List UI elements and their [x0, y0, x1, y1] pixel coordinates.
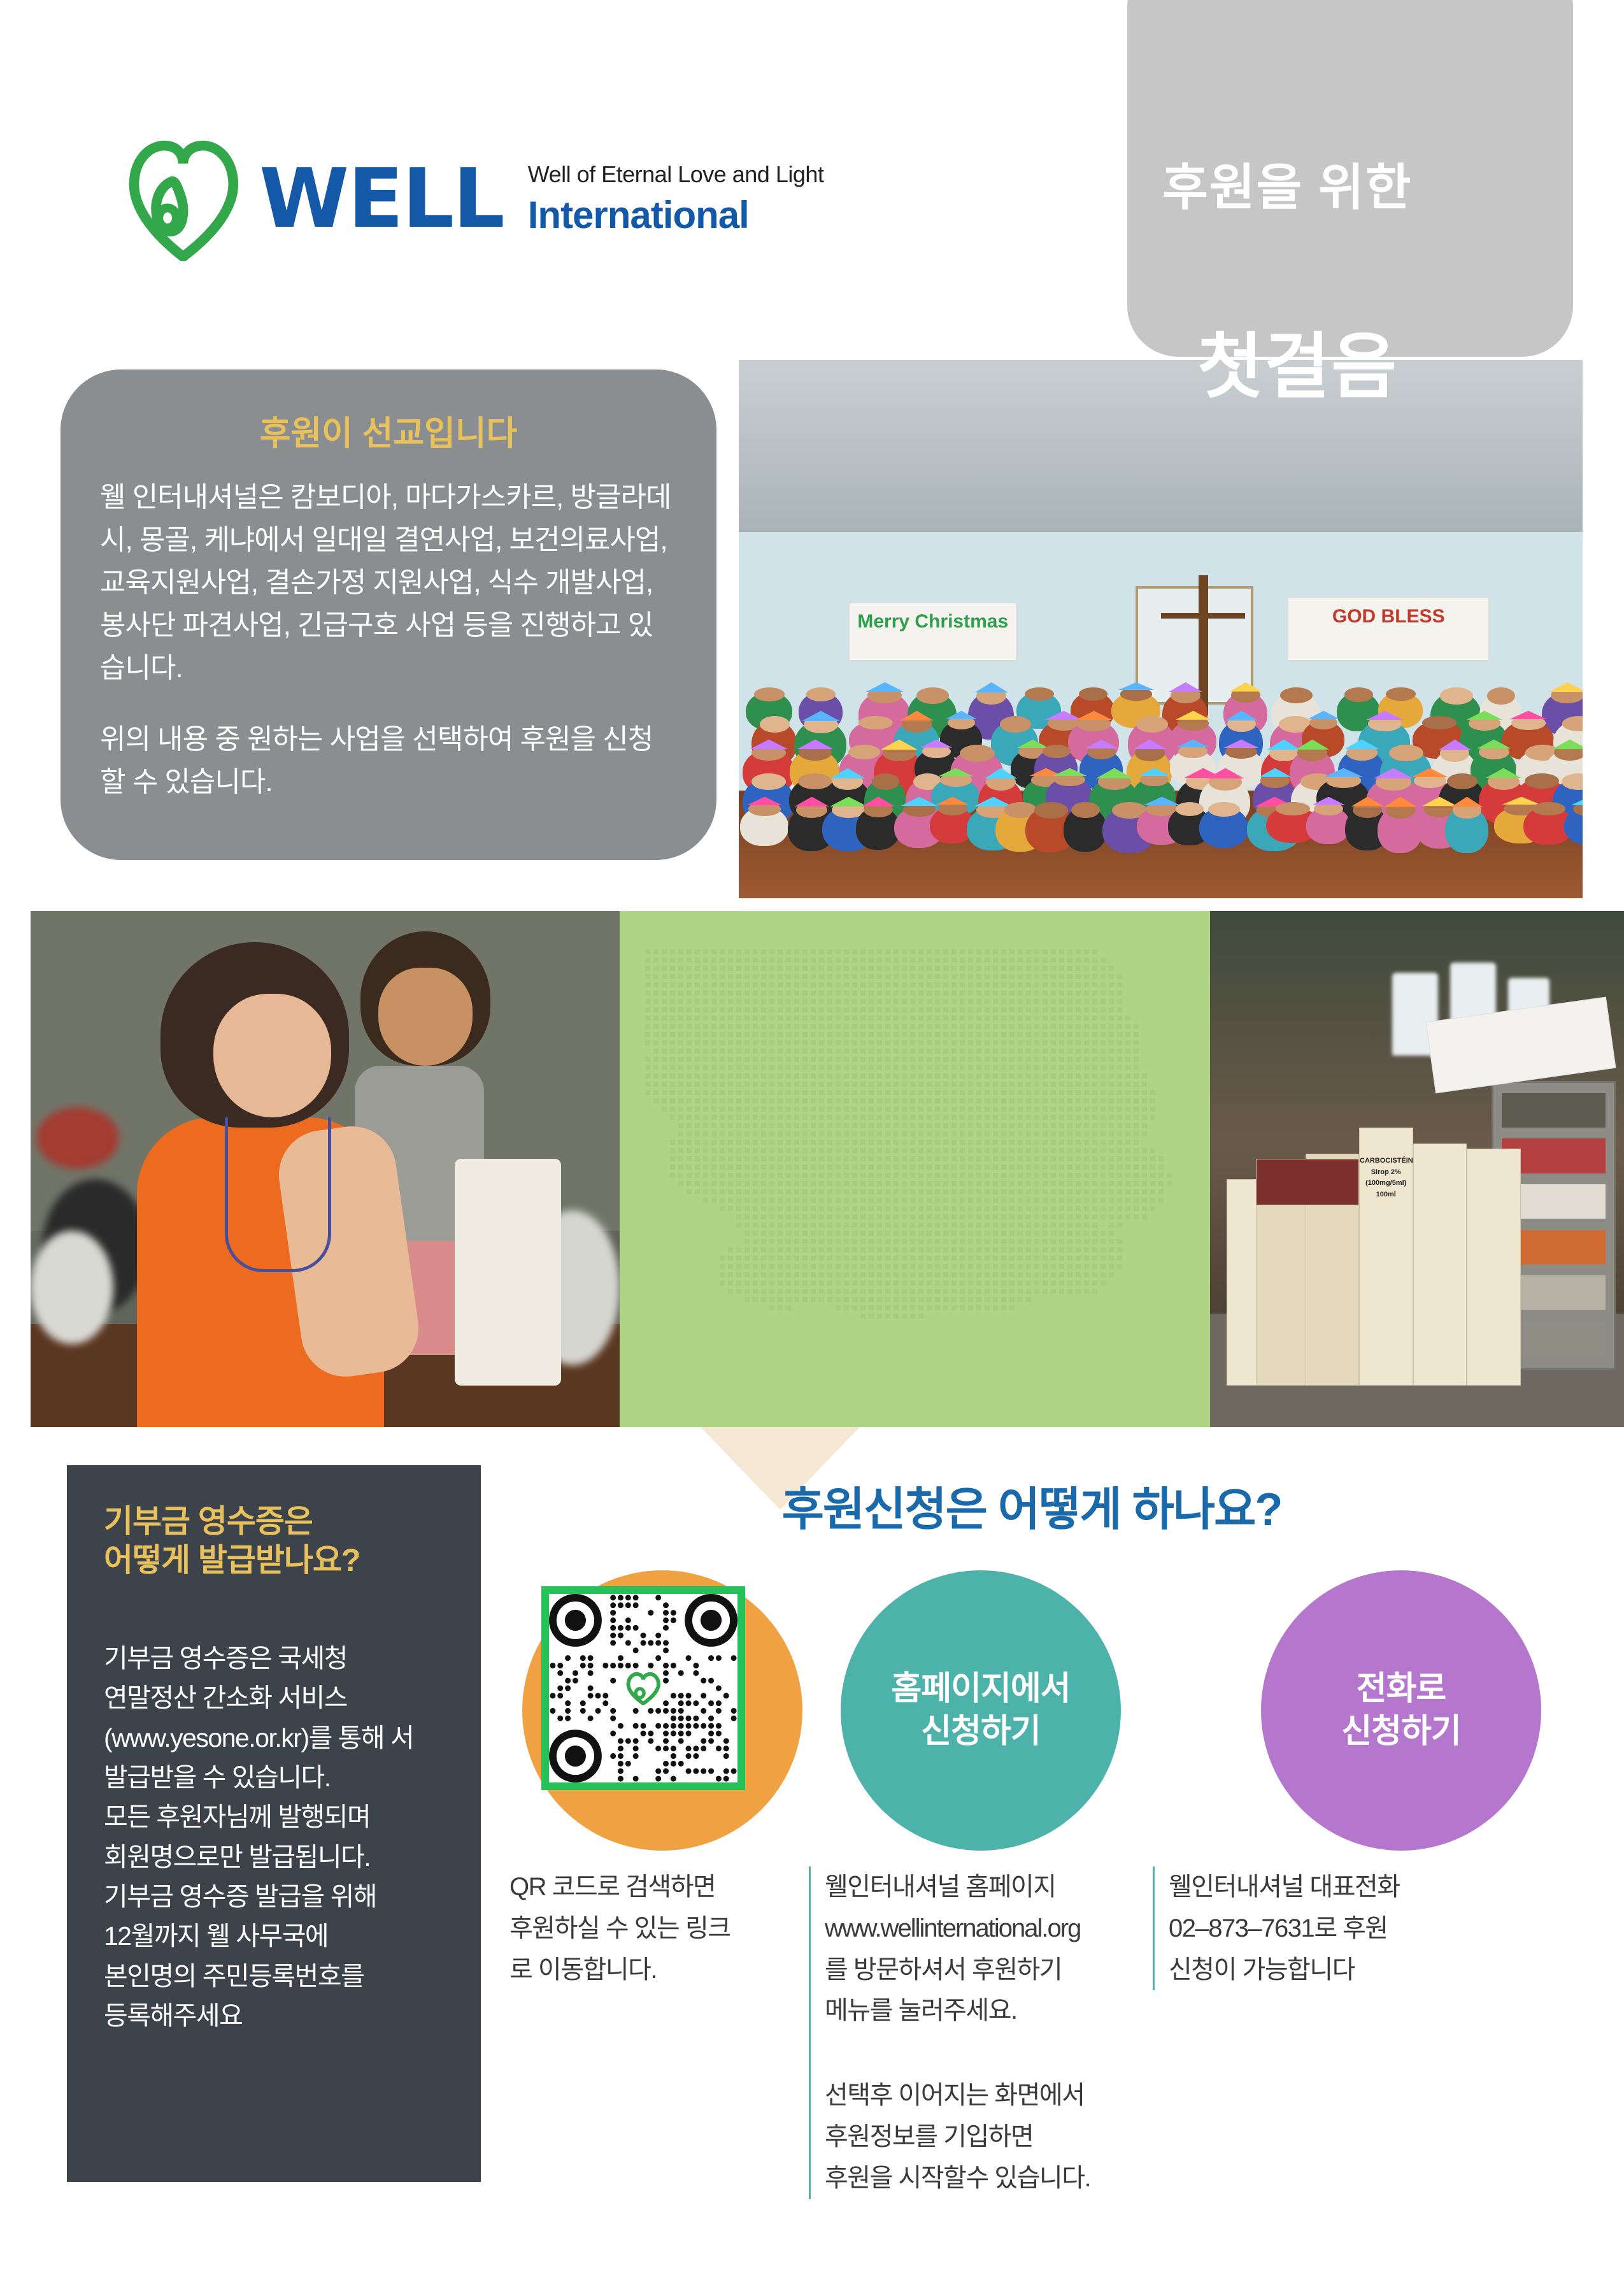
- hero-title-line1: 후원을 위한: [1162, 162, 1570, 212]
- method-qr-text: QR 코드로 검색하면 후원하실 수 있는 링크 로 이동합니다.: [509, 1867, 777, 1990]
- medicine-label: CARBOCISTÉINE Sirop 2% (100mg/5ml) 100ml: [1360, 1128, 1413, 1200]
- intro-body: 웰 인터내셔널은 캄보디아, 마다가스카르, 방글라데시, 몽골, 케냐에서 일…: [100, 477, 677, 804]
- sign-merry-christmas: Merry Christmas: [848, 602, 1017, 661]
- receipt-title: 기부금 영수증은 어떻게 발급받나요?: [104, 1502, 448, 1580]
- method-website-head: 웰인터내셔널 홈페이지: [825, 1867, 1108, 1908]
- method-phone-head: 웰인터내셔널 대표전화: [1169, 1867, 1452, 1908]
- volunteer-photo: [31, 911, 620, 1427]
- option-website-circle[interactable]: 홈페이지에서 신청하기: [841, 1570, 1121, 1851]
- brand-tagline: Well of Eternal Love and Light: [528, 161, 824, 188]
- intro-paragraph-1: 웰 인터내셔널은 캄보디아, 마다가스카르, 방글라데시, 몽골, 케냐에서 일…: [100, 477, 677, 689]
- intro-paragraph-2: 위의 내용 중 원하는 사업을 선택하여 후원을 신청할 수 있습니다.: [100, 719, 677, 804]
- method-website-url[interactable]: www.wellinternational.org: [825, 1908, 1108, 1949]
- brand-wordmark: WELL: [259, 161, 504, 238]
- hero-title-line2: 첫걸음: [1197, 331, 1605, 403]
- well-heart-logo-icon: [626, 1672, 660, 1705]
- medicine-photo: CARBOCISTÉINE Sirop 2% (100mg/5ml) 100ml: [1210, 911, 1624, 1427]
- world-map-dots-icon: [620, 911, 1210, 1427]
- poster-root: 후원을 위한 첫걸음 WELL Well of Eternal Love and…: [0, 0, 1624, 2280]
- method-qr-body: QR 코드로 검색하면 후원하실 수 있는 링크 로 이동합니다.: [509, 1867, 777, 1990]
- receipt-body: 기부금 영수증은 국세청 연말정산 간소화 서비스 (www.yesone.or…: [104, 1638, 448, 2035]
- apply-instructions: QR 코드로 검색하면 후원하실 수 있는 링크 로 이동합니다. 웰인터내셔널…: [503, 1867, 1624, 2262]
- country-list-panel: [620, 911, 1210, 1427]
- option-phone-circle[interactable]: 전화로 신청하기: [1261, 1570, 1541, 1851]
- method-phone-text: 웰인터내셔널 대표전화 02–873–7631로 후원 신청이 가능합니다: [1153, 1867, 1452, 1990]
- method-website-text: 웰인터내셔널 홈페이지 www.wellinternational.org 를 …: [809, 1867, 1108, 2199]
- brand-subname: International: [528, 193, 824, 237]
- intro-title: 후원이 선교입니다: [100, 406, 677, 455]
- well-heart-logo-icon: [127, 137, 239, 261]
- intro-panel: 후원이 선교입니다 웰 인터내셔널은 캄보디아, 마다가스카르, 방글라데시, …: [61, 369, 716, 860]
- qr-code[interactable]: [541, 1586, 745, 1790]
- cross-bar: [1161, 613, 1246, 619]
- method-phone-number[interactable]: 02–873–7631: [1169, 1914, 1314, 1942]
- method-website-rest: 를 방문하셔서 후원하기 메뉴를 눌러주세요.: [825, 1949, 1108, 2032]
- sign-god-bless: GOD BLESS: [1287, 597, 1490, 661]
- brand-logo: WELL Well of Eternal Love and Light Inte…: [127, 137, 823, 261]
- programs-band: CARBOCISTÉINE Sirop 2% (100mg/5ml) 100ml: [0, 911, 1624, 1427]
- option-phone-label: 전화로 신청하기: [1341, 1668, 1460, 1753]
- group-photo: Merry Christmas GOD BLESS: [739, 360, 1583, 898]
- photo-crowd: [739, 683, 1583, 834]
- apply-heading: 후원신청은 어떻게 하나요?: [675, 1472, 1388, 1538]
- option-website-label: 홈페이지에서 신청하기: [891, 1668, 1070, 1753]
- method-website-block2: 선택후 이어지는 화면에서 후원정보를 기입하면 후원을 시작할수 있습니다.: [825, 2075, 1108, 2198]
- receipt-panel: 기부금 영수증은 어떻게 발급받나요? 기부금 영수증은 국세청 연말정산 간소…: [67, 1465, 481, 2182]
